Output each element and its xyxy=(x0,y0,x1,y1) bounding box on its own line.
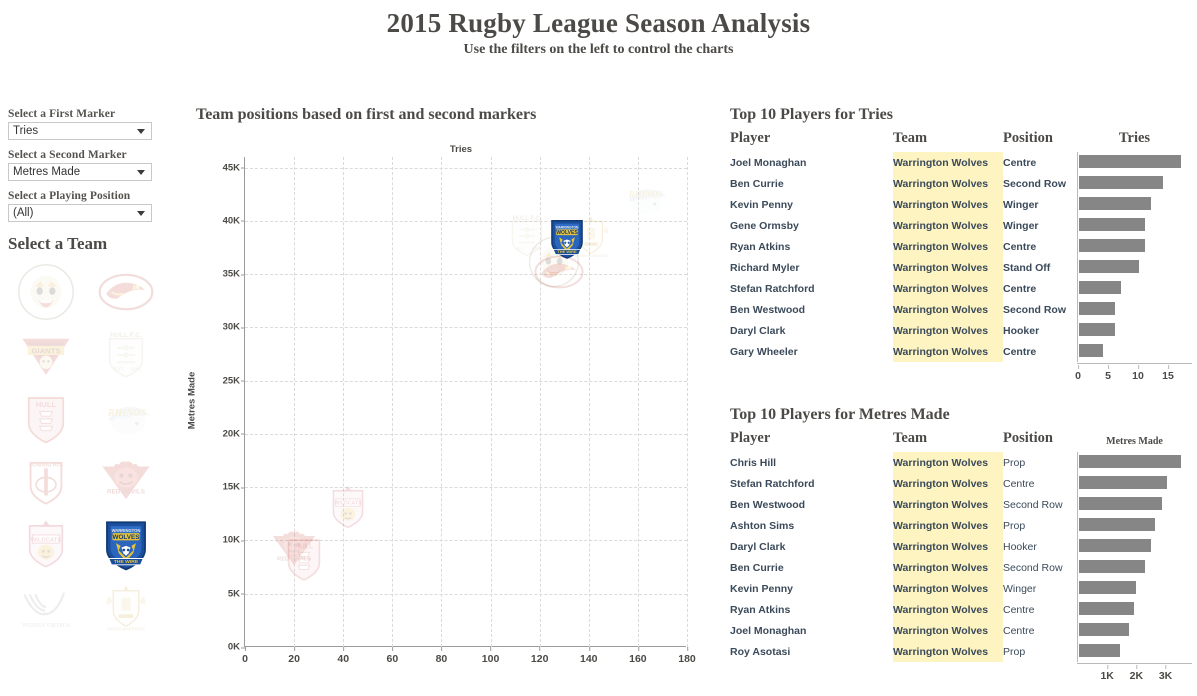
svg-text:GIANTS: GIANTS xyxy=(31,346,60,355)
value-bar xyxy=(1079,539,1151,552)
table-row[interactable]: Stefan RatchfordWarrington WolvesCentre xyxy=(730,473,1192,494)
cell-value-bar xyxy=(1077,152,1192,173)
bar-axis: 1K2K3K xyxy=(1077,662,1192,683)
cell-team: Warrington Wolves xyxy=(893,452,1003,473)
spacer xyxy=(893,662,1003,683)
cell-team: Warrington Wolves xyxy=(893,557,1003,578)
first-marker-value: Tries xyxy=(13,125,137,137)
svg-text:RED DEVILS: RED DEVILS xyxy=(107,488,145,495)
svg-text:THE WIRE: THE WIRE xyxy=(557,249,577,254)
cell-player: Ben Currie xyxy=(730,557,893,578)
gridline-vertical xyxy=(441,157,442,647)
gridline-horizontal xyxy=(245,327,687,328)
scatter-point-hull-kingston-rovers[interactable]: HULL xyxy=(278,532,330,584)
svg-text:HULL: HULL xyxy=(36,400,57,409)
value-bar xyxy=(1079,602,1134,615)
svg-text:HULL F.C.: HULL F.C. xyxy=(513,215,542,222)
svg-text:1865: 1865 xyxy=(131,366,142,371)
second-marker-label: Select a Second Marker xyxy=(8,149,170,161)
bar-axis-row: 1K2K3K xyxy=(730,662,1192,683)
bar-axis: 051015 xyxy=(1077,362,1192,383)
x-axis-tick-label: 0 xyxy=(242,653,248,665)
cell-value-bar xyxy=(1077,341,1192,362)
scatter-point-leeds-rhinos[interactable]: RHINOS xyxy=(619,173,671,225)
value-bar xyxy=(1079,455,1181,468)
cell-value-bar xyxy=(1077,473,1192,494)
value-bar xyxy=(1079,302,1115,315)
cell-position: Winger xyxy=(1003,215,1077,236)
cell-team: Warrington Wolves xyxy=(893,536,1003,557)
chevron-down-icon xyxy=(137,211,145,216)
cell-position: Centre xyxy=(1003,473,1077,494)
cell-value-bar xyxy=(1077,278,1192,299)
table-header-row: Player Team Position Metres Made xyxy=(730,430,1192,452)
cell-value-bar xyxy=(1077,194,1192,215)
cell-player: Stefan Ratchford xyxy=(730,473,893,494)
cell-player: Stefan Ratchford xyxy=(730,278,893,299)
gridline-horizontal xyxy=(245,168,687,169)
team-logo-castleford-tigers[interactable] xyxy=(8,260,84,323)
scatter-chart: Team positions based on first and second… xyxy=(196,106,716,690)
cell-value-bar xyxy=(1077,641,1192,662)
table-row[interactable]: Ben CurrieWarrington WolvesSecond Row xyxy=(730,173,1192,194)
cell-value-bar xyxy=(1077,173,1192,194)
bar-axis-tick-label: 10 xyxy=(1132,370,1144,382)
cell-team: Warrington Wolves xyxy=(893,578,1003,599)
svg-text:WOLVES: WOLVES xyxy=(113,534,140,541)
table-row[interactable]: Kevin PennyWarrington WolvesWinger xyxy=(730,194,1192,215)
playing-position-value: (All) xyxy=(13,207,137,219)
table-row[interactable]: Ben CurrieWarrington WolvesSecond Row xyxy=(730,557,1192,578)
tries-panel: Top 10 Players for Tries Player Team Pos… xyxy=(730,106,1197,383)
svg-text:St.Helens RFC: St.Helens RFC xyxy=(29,462,64,468)
bar-axis-tick-label: 3K xyxy=(1159,670,1172,682)
y-axis-tick-label: 30K xyxy=(223,322,240,333)
team-logo-huddersfield-giants[interactable]: GIANTS xyxy=(8,323,84,386)
scatter-title: Team positions based on first and second… xyxy=(196,106,716,124)
bar-axis-tick-label: 5 xyxy=(1105,370,1111,382)
cell-team: Warrington Wolves xyxy=(893,278,1003,299)
cell-team: Warrington Wolves xyxy=(893,515,1003,536)
table-row[interactable]: Stefan RatchfordWarrington WolvesCentre xyxy=(730,278,1192,299)
tries-table: Player Team Position Tries Joel Monaghan… xyxy=(730,130,1192,383)
col-player: Player xyxy=(730,430,893,452)
table-row[interactable]: Ryan AtkinsWarrington WolvesCentre xyxy=(730,599,1192,620)
cell-position: Centre xyxy=(1003,278,1077,299)
cell-player: Ben Westwood xyxy=(730,299,893,320)
tries-table-title: Top 10 Players for Tries xyxy=(730,106,1197,124)
svg-text:WARRINGTON: WARRINGTON xyxy=(112,527,141,532)
cell-position: Prop xyxy=(1003,515,1077,536)
y-axis-tick-label: 40K xyxy=(223,215,240,226)
filter-panel: Select a First Marker Tries Select a Sec… xyxy=(8,108,170,638)
value-bar xyxy=(1079,218,1145,231)
cell-player: Gene Ormsby xyxy=(730,215,893,236)
x-axis-tick-label: 40 xyxy=(337,653,349,665)
cell-player: Joel Monaghan xyxy=(730,152,893,173)
col-player: Player xyxy=(730,130,893,152)
y-axis-tick-label: 10K xyxy=(223,535,240,546)
spacer xyxy=(730,362,893,383)
col-position: Position xyxy=(1003,430,1077,452)
cell-value-bar xyxy=(1077,320,1192,341)
cell-value-bar xyxy=(1077,620,1192,641)
cell-value-bar xyxy=(1077,257,1192,278)
table-row[interactable]: Ryan AtkinsWarrington WolvesCentre xyxy=(730,236,1192,257)
axis-line xyxy=(1077,363,1192,364)
value-bar xyxy=(1079,176,1163,189)
second-marker-value: Metres Made xyxy=(13,166,137,178)
svg-text:HULL: HULL xyxy=(295,543,313,550)
x-axis-tick-label: 60 xyxy=(386,653,398,665)
cell-position: Second Row xyxy=(1003,173,1077,194)
col-tries: Tries xyxy=(1077,130,1192,152)
cell-player: Ben Currie xyxy=(730,173,893,194)
gridline-horizontal xyxy=(245,274,687,275)
col-metres: Metres Made xyxy=(1077,430,1192,452)
table-row[interactable]: Gary WheelerWarrington WolvesCentre xyxy=(730,341,1192,362)
cell-value-bar xyxy=(1077,236,1192,257)
team-logo-st-helens[interactable]: St.Helens RFC xyxy=(8,449,84,512)
team-logo-warrington-wolves[interactable]: WARRINGTON WOLVES THE WIRE xyxy=(88,512,164,575)
table-row[interactable]: Joel MonaghanWarrington WolvesCentre xyxy=(730,620,1192,641)
svg-text:WIGAN WARRIORS: WIGAN WARRIORS xyxy=(107,626,145,631)
y-axis-tick-label: 5K xyxy=(228,588,240,599)
cell-position: Prop xyxy=(1003,641,1077,662)
value-bar xyxy=(1079,623,1129,636)
value-bar xyxy=(1079,344,1103,357)
cell-player: Richard Myler xyxy=(730,257,893,278)
cell-player: Roy Asotasi xyxy=(730,641,893,662)
x-axis-tick-label: 20 xyxy=(288,653,300,665)
table-row[interactable]: Ben WestwoodWarrington WolvesSecond Row xyxy=(730,299,1192,320)
cell-player: Kevin Penny xyxy=(730,578,893,599)
bar-axis-tick-label: 1K xyxy=(1100,670,1113,682)
first-marker-select[interactable]: Tries xyxy=(8,122,152,140)
bar-axis-tick-label: 15 xyxy=(1162,370,1174,382)
team-logo-widnes-vikings[interactable]: WIDNES VIKINGS xyxy=(8,575,84,638)
bar-axis-tick-label: 2K xyxy=(1130,670,1143,682)
value-bar xyxy=(1079,260,1139,273)
cell-player: Daryl Clark xyxy=(730,536,893,557)
cell-value-bar xyxy=(1077,494,1192,515)
bar-axis-row: 051015 xyxy=(730,362,1192,383)
scatter-point-wakefield-wildcats[interactable]: WILDCATS xyxy=(322,481,374,533)
cell-position: Second Row xyxy=(1003,557,1077,578)
team-logo-leeds-rhinos[interactable]: RHINOS xyxy=(88,386,164,449)
gridline-vertical xyxy=(638,157,639,647)
svg-text:WIDNES VIKINGS: WIDNES VIKINGS xyxy=(22,622,70,628)
table-row[interactable]: Ben WestwoodWarrington WolvesSecond Row xyxy=(730,494,1192,515)
value-bar xyxy=(1079,281,1121,294)
cell-team: Warrington Wolves xyxy=(893,641,1003,662)
gridline-horizontal xyxy=(245,381,687,382)
col-position: Position xyxy=(1003,130,1077,152)
playing-position-label: Select a Playing Position xyxy=(8,190,170,202)
cell-team: Warrington Wolves xyxy=(893,494,1003,515)
value-bar xyxy=(1079,476,1167,489)
cell-position: Centre xyxy=(1003,236,1077,257)
value-bar xyxy=(1079,560,1145,573)
cell-position: Second Row xyxy=(1003,299,1077,320)
y-axis-tick-label: 45K xyxy=(223,162,240,173)
cell-value-bar xyxy=(1077,536,1192,557)
team-logo-hull-f-c[interactable]: HULL F.C. EST. 1865 xyxy=(88,323,164,386)
svg-text:HULL F.C.: HULL F.C. xyxy=(110,331,142,338)
cell-team: Warrington Wolves xyxy=(893,620,1003,641)
metres-table-title: Top 10 Players for Metres Made xyxy=(730,406,1197,424)
cell-team: Warrington Wolves xyxy=(893,236,1003,257)
team-selector-grid: GIANTS HULL F.C. EST. 1865 HULL RHINOS S… xyxy=(8,260,166,638)
cell-position: Stand Off xyxy=(1003,257,1077,278)
spacer xyxy=(1003,662,1077,683)
cell-value-bar xyxy=(1077,299,1192,320)
table-row[interactable]: Joel MonaghanWarrington WolvesCentre xyxy=(730,152,1192,173)
cell-player: Ryan Atkins xyxy=(730,599,893,620)
team-logo-wigan-warriors[interactable]: WIGAN WARRIORS xyxy=(88,575,164,638)
x-axis-tick-label: 160 xyxy=(629,653,647,665)
cell-player: Joel Monaghan xyxy=(730,620,893,641)
team-logo-wakefield-wildcats[interactable]: WILDCATS xyxy=(8,512,84,575)
cell-team: Warrington Wolves xyxy=(893,599,1003,620)
table-header-row: Player Team Position Tries xyxy=(730,130,1192,152)
svg-text:WILDCATS: WILDCATS xyxy=(334,501,362,507)
svg-text:EST.: EST. xyxy=(517,246,526,251)
cell-position: Winger xyxy=(1003,194,1077,215)
x-axis-tick-label: 100 xyxy=(482,653,500,665)
metres-panel: Top 10 Players for Metres Made Player Te… xyxy=(730,406,1197,683)
y-axis-tick-label: 20K xyxy=(223,428,240,439)
value-bar xyxy=(1079,155,1181,168)
cell-value-bar xyxy=(1077,599,1192,620)
svg-text:WOLVES: WOLVES xyxy=(556,230,578,236)
cell-position: Hooker xyxy=(1003,536,1077,557)
team-selector-header: Select a Team xyxy=(8,234,170,254)
x-axis-tick-label: 80 xyxy=(436,653,448,665)
cell-team: Warrington Wolves xyxy=(893,257,1003,278)
table-row[interactable]: Daryl ClarkWarrington WolvesHooker xyxy=(730,536,1192,557)
gridline-horizontal xyxy=(245,434,687,435)
cell-team: Warrington Wolves xyxy=(893,194,1003,215)
x-axis-tick-label: 180 xyxy=(678,653,696,665)
gridline-horizontal xyxy=(245,594,687,595)
cell-value-bar xyxy=(1077,578,1192,599)
spacer xyxy=(893,362,1003,383)
value-bar xyxy=(1079,518,1155,531)
cell-position: Prop xyxy=(1003,452,1077,473)
cell-team: Warrington Wolves xyxy=(893,152,1003,173)
scatter-plot-area[interactable]: 0K5K10K15K20K25K30K35K40K45K020406080100… xyxy=(244,157,686,647)
y-axis-tick-label: 35K xyxy=(223,269,240,280)
scatter-xaxis-title: Tries xyxy=(244,144,678,155)
svg-text:WILDCATS: WILDCATS xyxy=(31,537,62,543)
col-team: Team xyxy=(893,430,1003,452)
table-row[interactable]: Roy AsotasiWarrington WolvesProp xyxy=(730,641,1192,662)
x-axis-tick-label: 120 xyxy=(531,653,549,665)
gridline-vertical xyxy=(392,157,393,647)
cell-value-bar xyxy=(1077,452,1192,473)
cell-player: Ashton Sims xyxy=(730,515,893,536)
chevron-down-icon xyxy=(137,129,145,134)
team-logo-catalans-dragons[interactable] xyxy=(88,260,164,323)
cell-position: Winger xyxy=(1003,578,1077,599)
x-axis-tick-label: 140 xyxy=(580,653,598,665)
table-row[interactable]: Daryl ClarkWarrington WolvesHooker xyxy=(730,320,1192,341)
cell-position: Centre xyxy=(1003,620,1077,641)
cell-position: Centre xyxy=(1003,152,1077,173)
metres-table: Player Team Position Metres Made Chris H… xyxy=(730,430,1192,683)
cell-position: Centre xyxy=(1003,341,1077,362)
second-marker-select[interactable]: Metres Made xyxy=(8,163,152,181)
cell-value-bar xyxy=(1077,557,1192,578)
cell-player: Ryan Atkins xyxy=(730,236,893,257)
gridline-vertical xyxy=(687,157,688,647)
scatter-point-warrington-wolves[interactable]: WARRINGTON WOLVES THE WIRE xyxy=(544,215,590,261)
first-marker-label: Select a First Marker xyxy=(8,108,170,120)
gridline-vertical xyxy=(343,157,344,647)
cell-player: Daryl Clark xyxy=(730,320,893,341)
cell-team: Warrington Wolves xyxy=(893,173,1003,194)
playing-position-select[interactable]: (All) xyxy=(8,204,152,222)
cell-team: Warrington Wolves xyxy=(893,473,1003,494)
y-axis-tick-label: 15K xyxy=(223,482,240,493)
y-axis-tick-label: 0K xyxy=(228,642,240,653)
cell-position: Second Row xyxy=(1003,494,1077,515)
table-row[interactable]: Chris HillWarrington WolvesProp xyxy=(730,452,1192,473)
bar-axis-tick-label: 0 xyxy=(1075,370,1081,382)
scatter-yaxis-title: Metres Made xyxy=(187,372,198,430)
table-row[interactable]: Kevin PennyWarrington WolvesWinger xyxy=(730,578,1192,599)
value-bar xyxy=(1079,644,1120,657)
cell-position: Hooker xyxy=(1003,320,1077,341)
value-bar xyxy=(1079,239,1145,252)
svg-text:WARRINGTON: WARRINGTON xyxy=(555,225,578,229)
col-team: Team xyxy=(893,130,1003,152)
page-subtitle: Use the filters on the left to control t… xyxy=(0,41,1197,59)
page-header: 2015 Rugby League Season Analysis Use th… xyxy=(0,6,1197,59)
value-bar xyxy=(1079,497,1162,510)
cell-player: Gary Wheeler xyxy=(730,341,893,362)
cell-value-bar xyxy=(1077,215,1192,236)
cell-team: Warrington Wolves xyxy=(893,215,1003,236)
spacer xyxy=(730,662,893,683)
cell-team: Warrington Wolves xyxy=(893,299,1003,320)
value-bar xyxy=(1079,197,1151,210)
spacer xyxy=(1003,362,1077,383)
table-row[interactable]: Ashton SimsWarrington WolvesProp xyxy=(730,515,1192,536)
svg-text:THE WIRE: THE WIRE xyxy=(114,559,139,565)
y-axis-tick-label: 25K xyxy=(223,375,240,386)
value-bar xyxy=(1079,323,1115,336)
axis-line xyxy=(1077,663,1192,664)
cell-value-bar xyxy=(1077,515,1192,536)
svg-text:EST.: EST. xyxy=(114,366,124,371)
gridline-horizontal xyxy=(245,487,687,488)
team-logo-salford-red-devils[interactable]: RED DEVILS xyxy=(88,449,164,512)
team-logo-hull-kingston-rovers[interactable]: HULL xyxy=(8,386,84,449)
cell-player: Ben Westwood xyxy=(730,494,893,515)
page-title: 2015 Rugby League Season Analysis xyxy=(0,6,1197,40)
cell-position: Centre xyxy=(1003,599,1077,620)
table-row[interactable]: Gene OrmsbyWarrington WolvesWinger xyxy=(730,215,1192,236)
cell-player: Kevin Penny xyxy=(730,194,893,215)
cell-team: Warrington Wolves xyxy=(893,341,1003,362)
table-row[interactable]: Richard MylerWarrington WolvesStand Off xyxy=(730,257,1192,278)
gridline-vertical xyxy=(491,157,492,647)
cell-player: Chris Hill xyxy=(730,452,893,473)
value-bar xyxy=(1079,581,1136,594)
chevron-down-icon xyxy=(137,170,145,175)
cell-team: Warrington Wolves xyxy=(893,320,1003,341)
